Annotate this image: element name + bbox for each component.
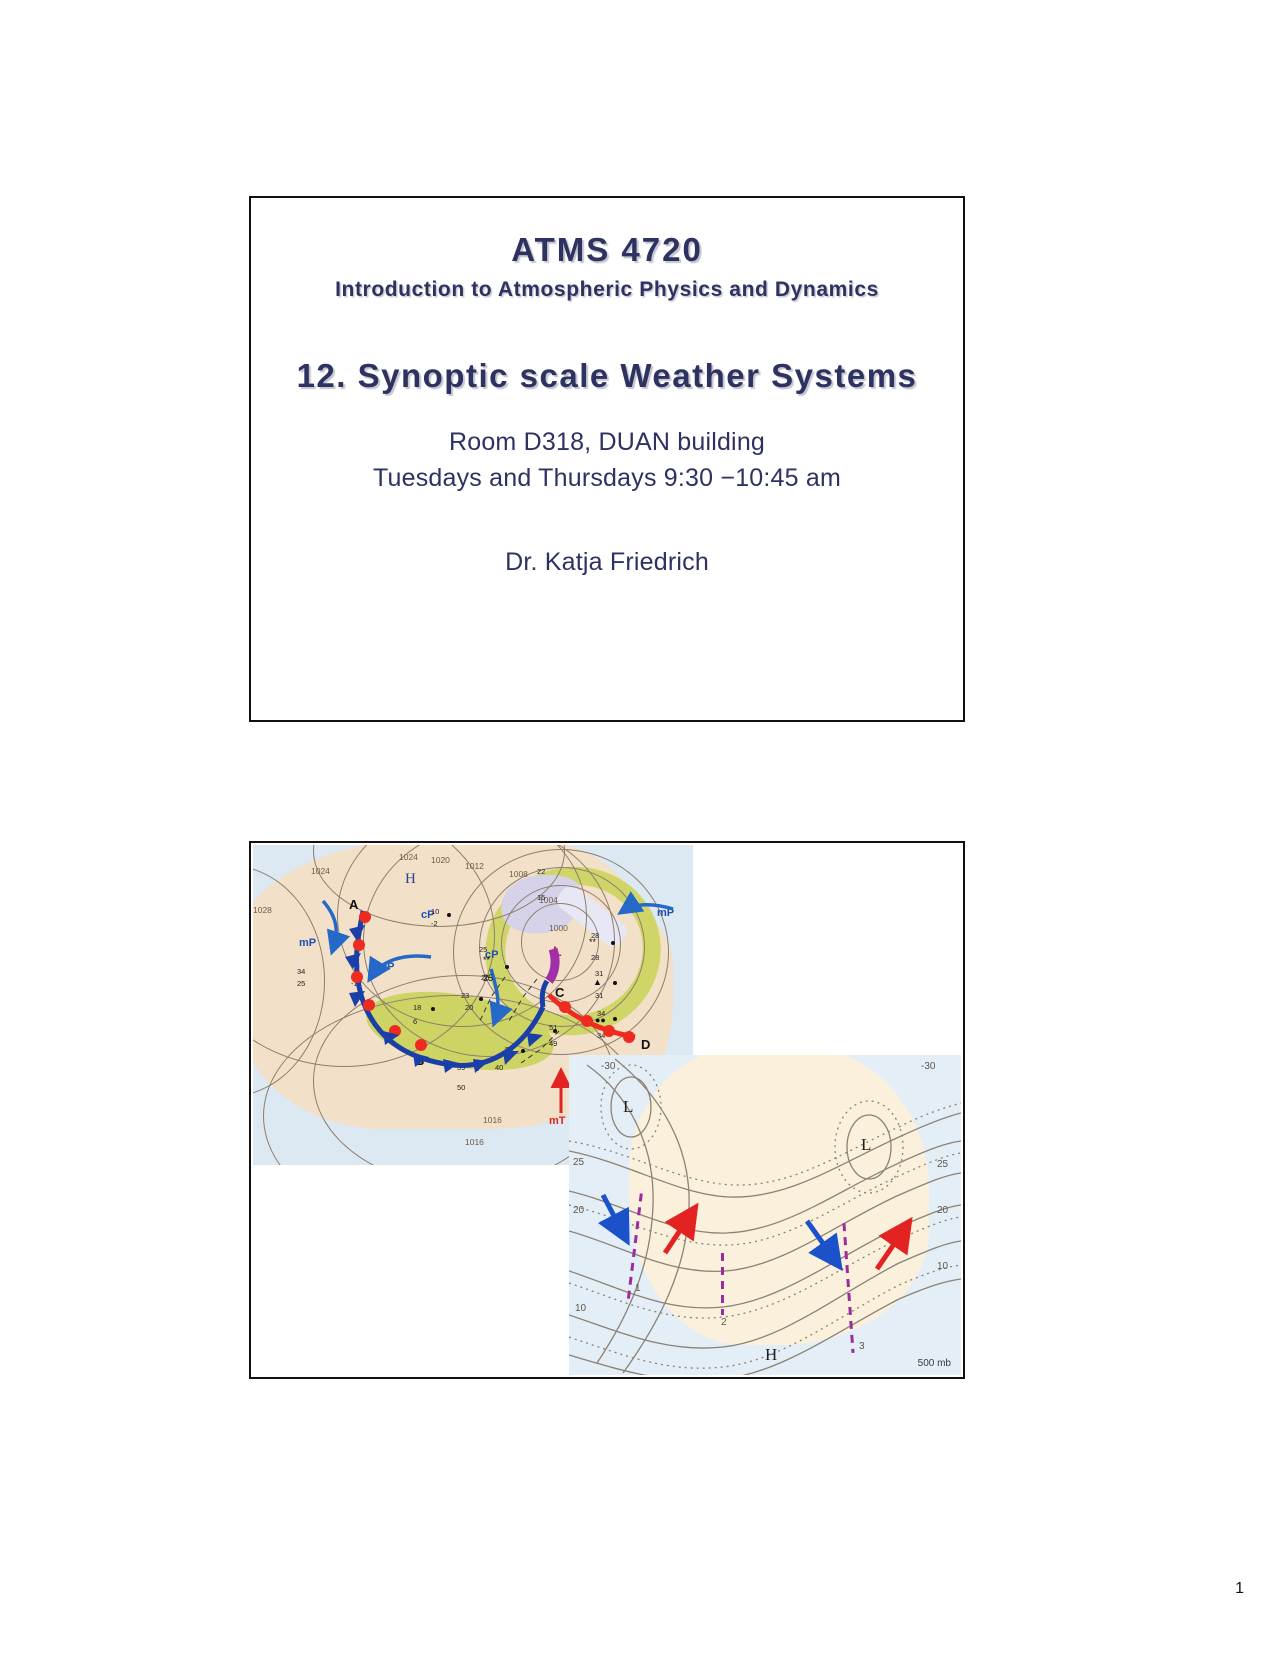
ua-height-label-2: 2 xyxy=(721,1317,727,1328)
level-label: 500 mb xyxy=(918,1358,951,1369)
svg-text:**: ** xyxy=(483,955,491,965)
title-slide-content: ATMS 4720 Introduction to Atmospheric Ph… xyxy=(251,198,963,577)
ua-low-label-west: L xyxy=(623,1097,633,1117)
lecture-title: 12. Synoptic scale Weather Systems xyxy=(279,355,935,396)
trough-axis-center xyxy=(721,1253,724,1315)
ua-height-label-3: 3 xyxy=(859,1341,865,1352)
schedule-line: Tuesdays and Thursdays 9:30 −10:45 am xyxy=(279,460,935,496)
room-line: Room D318, DUAN building xyxy=(279,424,935,460)
title-slide: ATMS 4720 Introduction to Atmospheric Ph… xyxy=(249,196,965,722)
course-code: ATMS 4720 xyxy=(279,232,935,268)
svg-text:●●: ●● xyxy=(595,1015,606,1025)
presenter-name: Dr. Katja Friedrich xyxy=(279,548,935,577)
ua-high-label: H xyxy=(765,1345,777,1365)
weather-map-slide: 1028 1024 1024 1020 1012 1008 1004 1000 … xyxy=(249,841,965,1379)
logistics-block: Room D318, DUAN building Tuesdays and Th… xyxy=(279,424,935,497)
ua-contour-label-m30-west: -30 xyxy=(601,1061,615,1072)
course-subtitle: Introduction to Atmospheric Physics and … xyxy=(279,276,935,304)
page-number: 1 xyxy=(1235,1580,1244,1598)
ua-contour-label-25-west: 25 xyxy=(573,1157,584,1168)
ua-low-label-east: L xyxy=(861,1135,871,1155)
upper-air-500mb-map: L L H -30 -30 25 25 20 20 10 10 1 2 3 50… xyxy=(569,1055,961,1375)
ua-height-label-1: 1 xyxy=(635,1283,641,1294)
ua-contour-label-20-east: 20 xyxy=(937,1205,948,1216)
svg-text:**: ** xyxy=(589,937,597,947)
ua-contour-label-25-east: 25 xyxy=(937,1159,948,1170)
ua-contour-label-10-east: 10 xyxy=(937,1261,948,1272)
ua-contour-label-20-west: 20 xyxy=(573,1205,584,1216)
ua-contour-label-m30-east: -30 xyxy=(921,1061,935,1072)
svg-text:25: 25 xyxy=(483,973,493,983)
svg-text:▲: ▲ xyxy=(593,977,602,987)
ua-contour-label-10-west: 10 xyxy=(575,1303,586,1314)
